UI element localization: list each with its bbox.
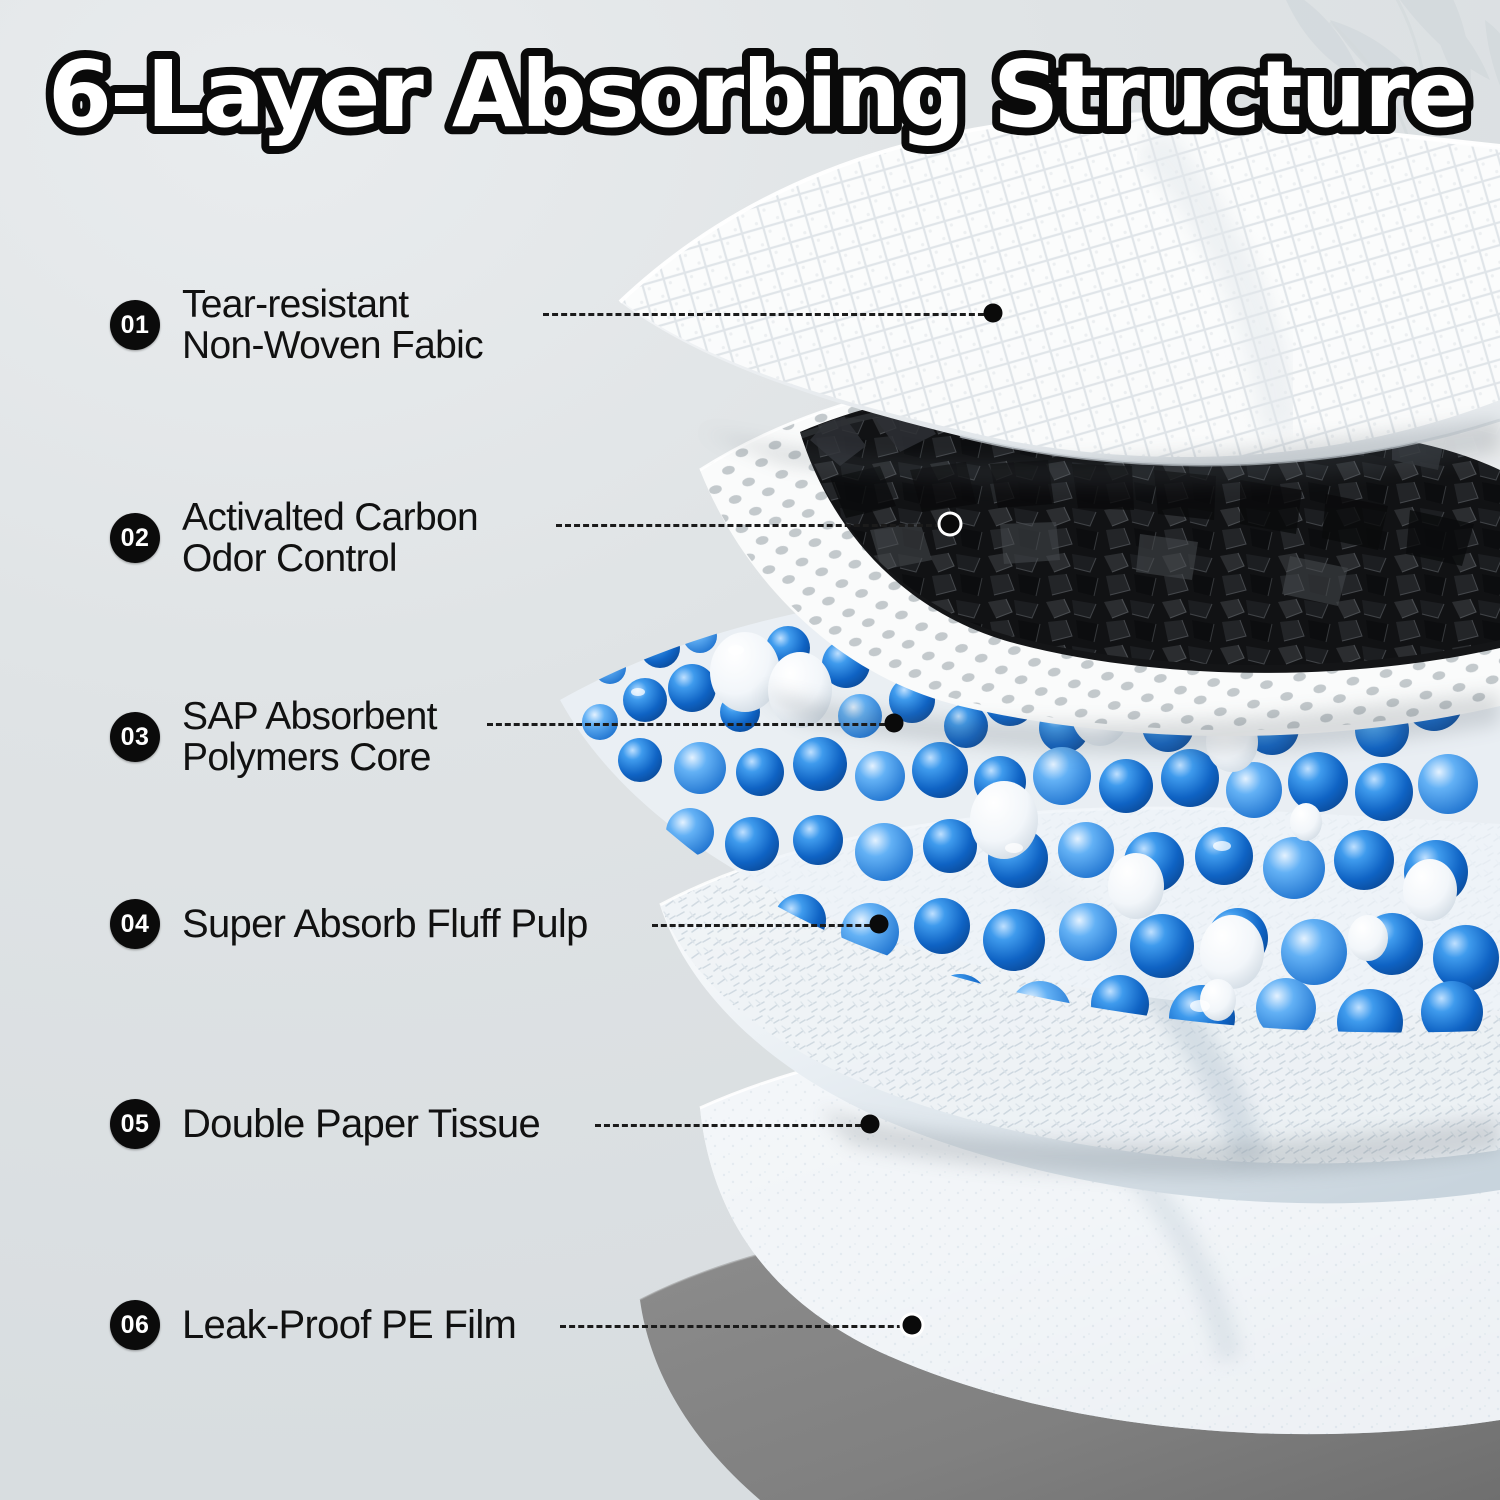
badge-number-06: 06 [110,1300,160,1350]
leader-line-03 [487,723,894,726]
callout-label-01: Tear-resistant Non-Woven Fabic [182,284,483,367]
callout-label-05: Double Paper Tissue [182,1103,540,1145]
callout-02[interactable]: 02 Activalted Carbon Odor Control [110,497,478,580]
page-title: 6-Layer Absorbing Structure 6-Layer Abso… [0,0,1500,190]
callout-04[interactable]: 04 Super Absorb Fluff Pulp [110,899,588,949]
callout-label-03: SAP Absorbent Polymers Core [182,696,437,779]
callout-label-06: Leak-Proof PE Film [182,1304,516,1346]
callout-label-02: Activalted Carbon Odor Control [182,497,478,580]
badge-number-01: 01 [110,300,160,350]
badge-number-04: 04 [110,899,160,949]
page-title-text: 6-Layer Absorbing Structure [48,41,1468,148]
leader-line-05 [595,1124,870,1127]
leader-dot-04 [870,915,889,934]
leader-dot-01 [984,304,1003,323]
callout-label-04: Super Absorb Fluff Pulp [182,903,588,945]
callout-03[interactable]: 03 SAP Absorbent Polymers Core [110,696,437,779]
infographic-poster: 6-Layer Absorbing Structure 6-Layer Abso… [0,0,1500,1500]
badge-number-05: 05 [110,1099,160,1149]
leader-dot-03 [885,714,904,733]
leader-line-06 [560,1325,912,1328]
leader-dot-05 [861,1115,880,1134]
leader-dot-02 [941,515,960,534]
callout-06[interactable]: 06 Leak-Proof PE Film [110,1300,516,1350]
badge-number-03: 03 [110,712,160,762]
callout-05[interactable]: 05 Double Paper Tissue [110,1099,540,1149]
badge-number-02: 02 [110,513,160,563]
leader-line-02 [556,524,950,527]
leader-line-01 [543,313,993,316]
leader-dot-06 [903,1316,922,1335]
leader-line-04 [652,924,879,927]
callout-01[interactable]: 01 Tear-resistant Non-Woven Fabic [110,284,483,367]
